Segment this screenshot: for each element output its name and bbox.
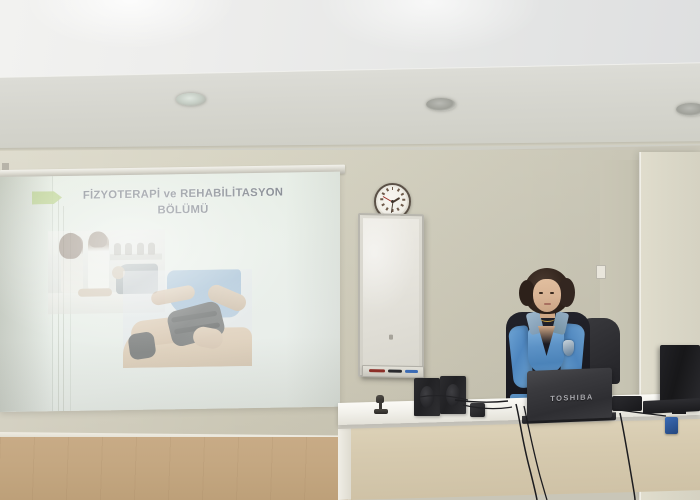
downlight-icon-2	[426, 98, 456, 111]
speaker-left[interactable]	[414, 378, 440, 416]
clinic-object-2	[125, 243, 132, 255]
lectern-front-panel	[348, 415, 700, 500]
whiteboard-sheen	[363, 218, 419, 373]
desk-microphone[interactable]	[374, 409, 388, 414]
presenter-face	[533, 279, 561, 312]
marker-red[interactable]	[369, 369, 385, 372]
whiteboard-marker-tray	[362, 365, 424, 378]
clinic-arm	[78, 288, 112, 297]
pc-unit[interactable]	[612, 396, 642, 411]
brace-strap-1	[171, 311, 217, 323]
presenter-eye-right	[550, 292, 554, 294]
clock-center-pin	[391, 200, 394, 203]
power-adapter[interactable]	[470, 403, 485, 417]
clinic-object-4	[148, 243, 155, 255]
whiteboard-mark	[389, 335, 393, 340]
clinic-object-3	[137, 243, 144, 255]
presenter-eye-left	[539, 292, 543, 294]
laptop-brand-label: TOSHIBA	[549, 392, 595, 403]
gown-emblem	[563, 340, 574, 356]
downlight-icon-1	[176, 93, 206, 106]
clock-tick-9	[380, 199, 383, 201]
speaker-right[interactable]	[440, 376, 466, 414]
marker-black[interactable]	[388, 369, 402, 372]
wood-floor	[0, 437, 352, 500]
slide-title: FİZYOTERAPİ ve REHABİLİTASYON BÖLÜMÜ	[58, 184, 308, 220]
necklace	[540, 315, 555, 322]
laptop[interactable]: TOSHIBA	[527, 368, 612, 421]
patient-sock	[127, 331, 156, 361]
clinic-therapist-2-hair	[89, 231, 107, 247]
slide-image-knee-therapy	[123, 269, 252, 368]
presenter-mouth	[544, 303, 551, 305]
light-switch[interactable]	[596, 265, 606, 279]
screen-shade	[0, 176, 52, 412]
projection-screen: FİZYOTERAPİ ve REHABİLİTASYON BÖLÜMÜ	[0, 172, 340, 412]
clinic-object-1	[114, 243, 121, 255]
clock-tick-3	[402, 199, 405, 201]
whiteboard	[358, 213, 424, 378]
vga-connector[interactable]	[665, 417, 678, 434]
clinic-therapist-1-hair	[59, 233, 82, 259]
lecture-hall-photo: FİZYOTERAPİ ve REHABİLİTASYON BÖLÜMÜ	[0, 0, 700, 500]
clock-tick-12	[392, 187, 394, 190]
downlight-icon-3	[676, 103, 700, 116]
whiteboard-surface[interactable]	[363, 218, 419, 373]
marker-blue[interactable]	[405, 370, 418, 373]
